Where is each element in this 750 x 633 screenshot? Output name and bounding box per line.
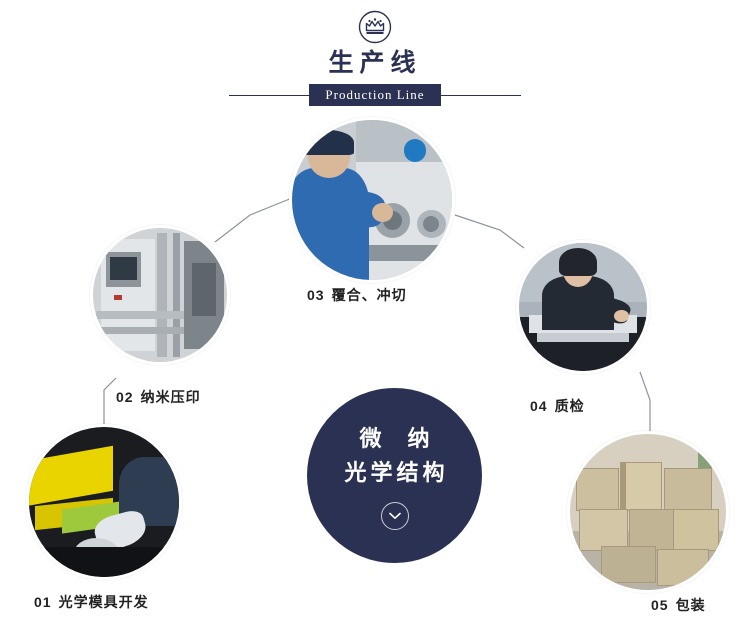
- node-02[interactable]: 02纳米压印: [90, 225, 230, 365]
- center-title-line1: 微 纳: [349, 422, 439, 456]
- quality-inspection-photo: [516, 240, 650, 374]
- node-02-number: 02: [116, 389, 134, 405]
- node-01-caption: 01光学模具开发: [34, 592, 149, 612]
- node-04[interactable]: 04质检: [516, 240, 650, 374]
- node-01[interactable]: 01光学模具开发: [26, 424, 182, 580]
- node-01-number: 01: [34, 594, 52, 610]
- chevron-down-icon[interactable]: [381, 502, 409, 530]
- packaging-cartons-photo: [567, 431, 729, 593]
- node-02-caption: 02纳米压印: [116, 387, 201, 407]
- node-05-caption: 05包装: [651, 595, 706, 615]
- node-04-number: 04: [530, 398, 548, 414]
- production-line-infographic: 生产线 Production Line: [0, 0, 750, 633]
- node-03-label: 覆合、冲切: [332, 287, 407, 303]
- node-03-number: 03: [307, 287, 325, 303]
- node-03-caption: 03覆合、冲切: [307, 285, 407, 305]
- nano-imprint-machine-photo: [90, 225, 230, 365]
- node-04-caption: 04质检: [530, 396, 585, 416]
- node-05-number: 05: [651, 597, 669, 613]
- optical-mould-development-photo: [26, 424, 182, 580]
- node-05-label: 包装: [676, 597, 706, 613]
- center-hub: 微 纳 光学结构: [307, 388, 482, 563]
- node-03[interactable]: 03覆合、冲切: [289, 117, 455, 283]
- node-04-label: 质检: [555, 398, 585, 414]
- center-title-line2: 光学结构: [340, 456, 448, 490]
- node-02-label: 纳米压印: [141, 389, 201, 405]
- node-05[interactable]: 05包装: [567, 431, 729, 593]
- lamination-die-cutting-photo: [289, 117, 455, 283]
- node-01-label: 光学模具开发: [59, 594, 149, 610]
